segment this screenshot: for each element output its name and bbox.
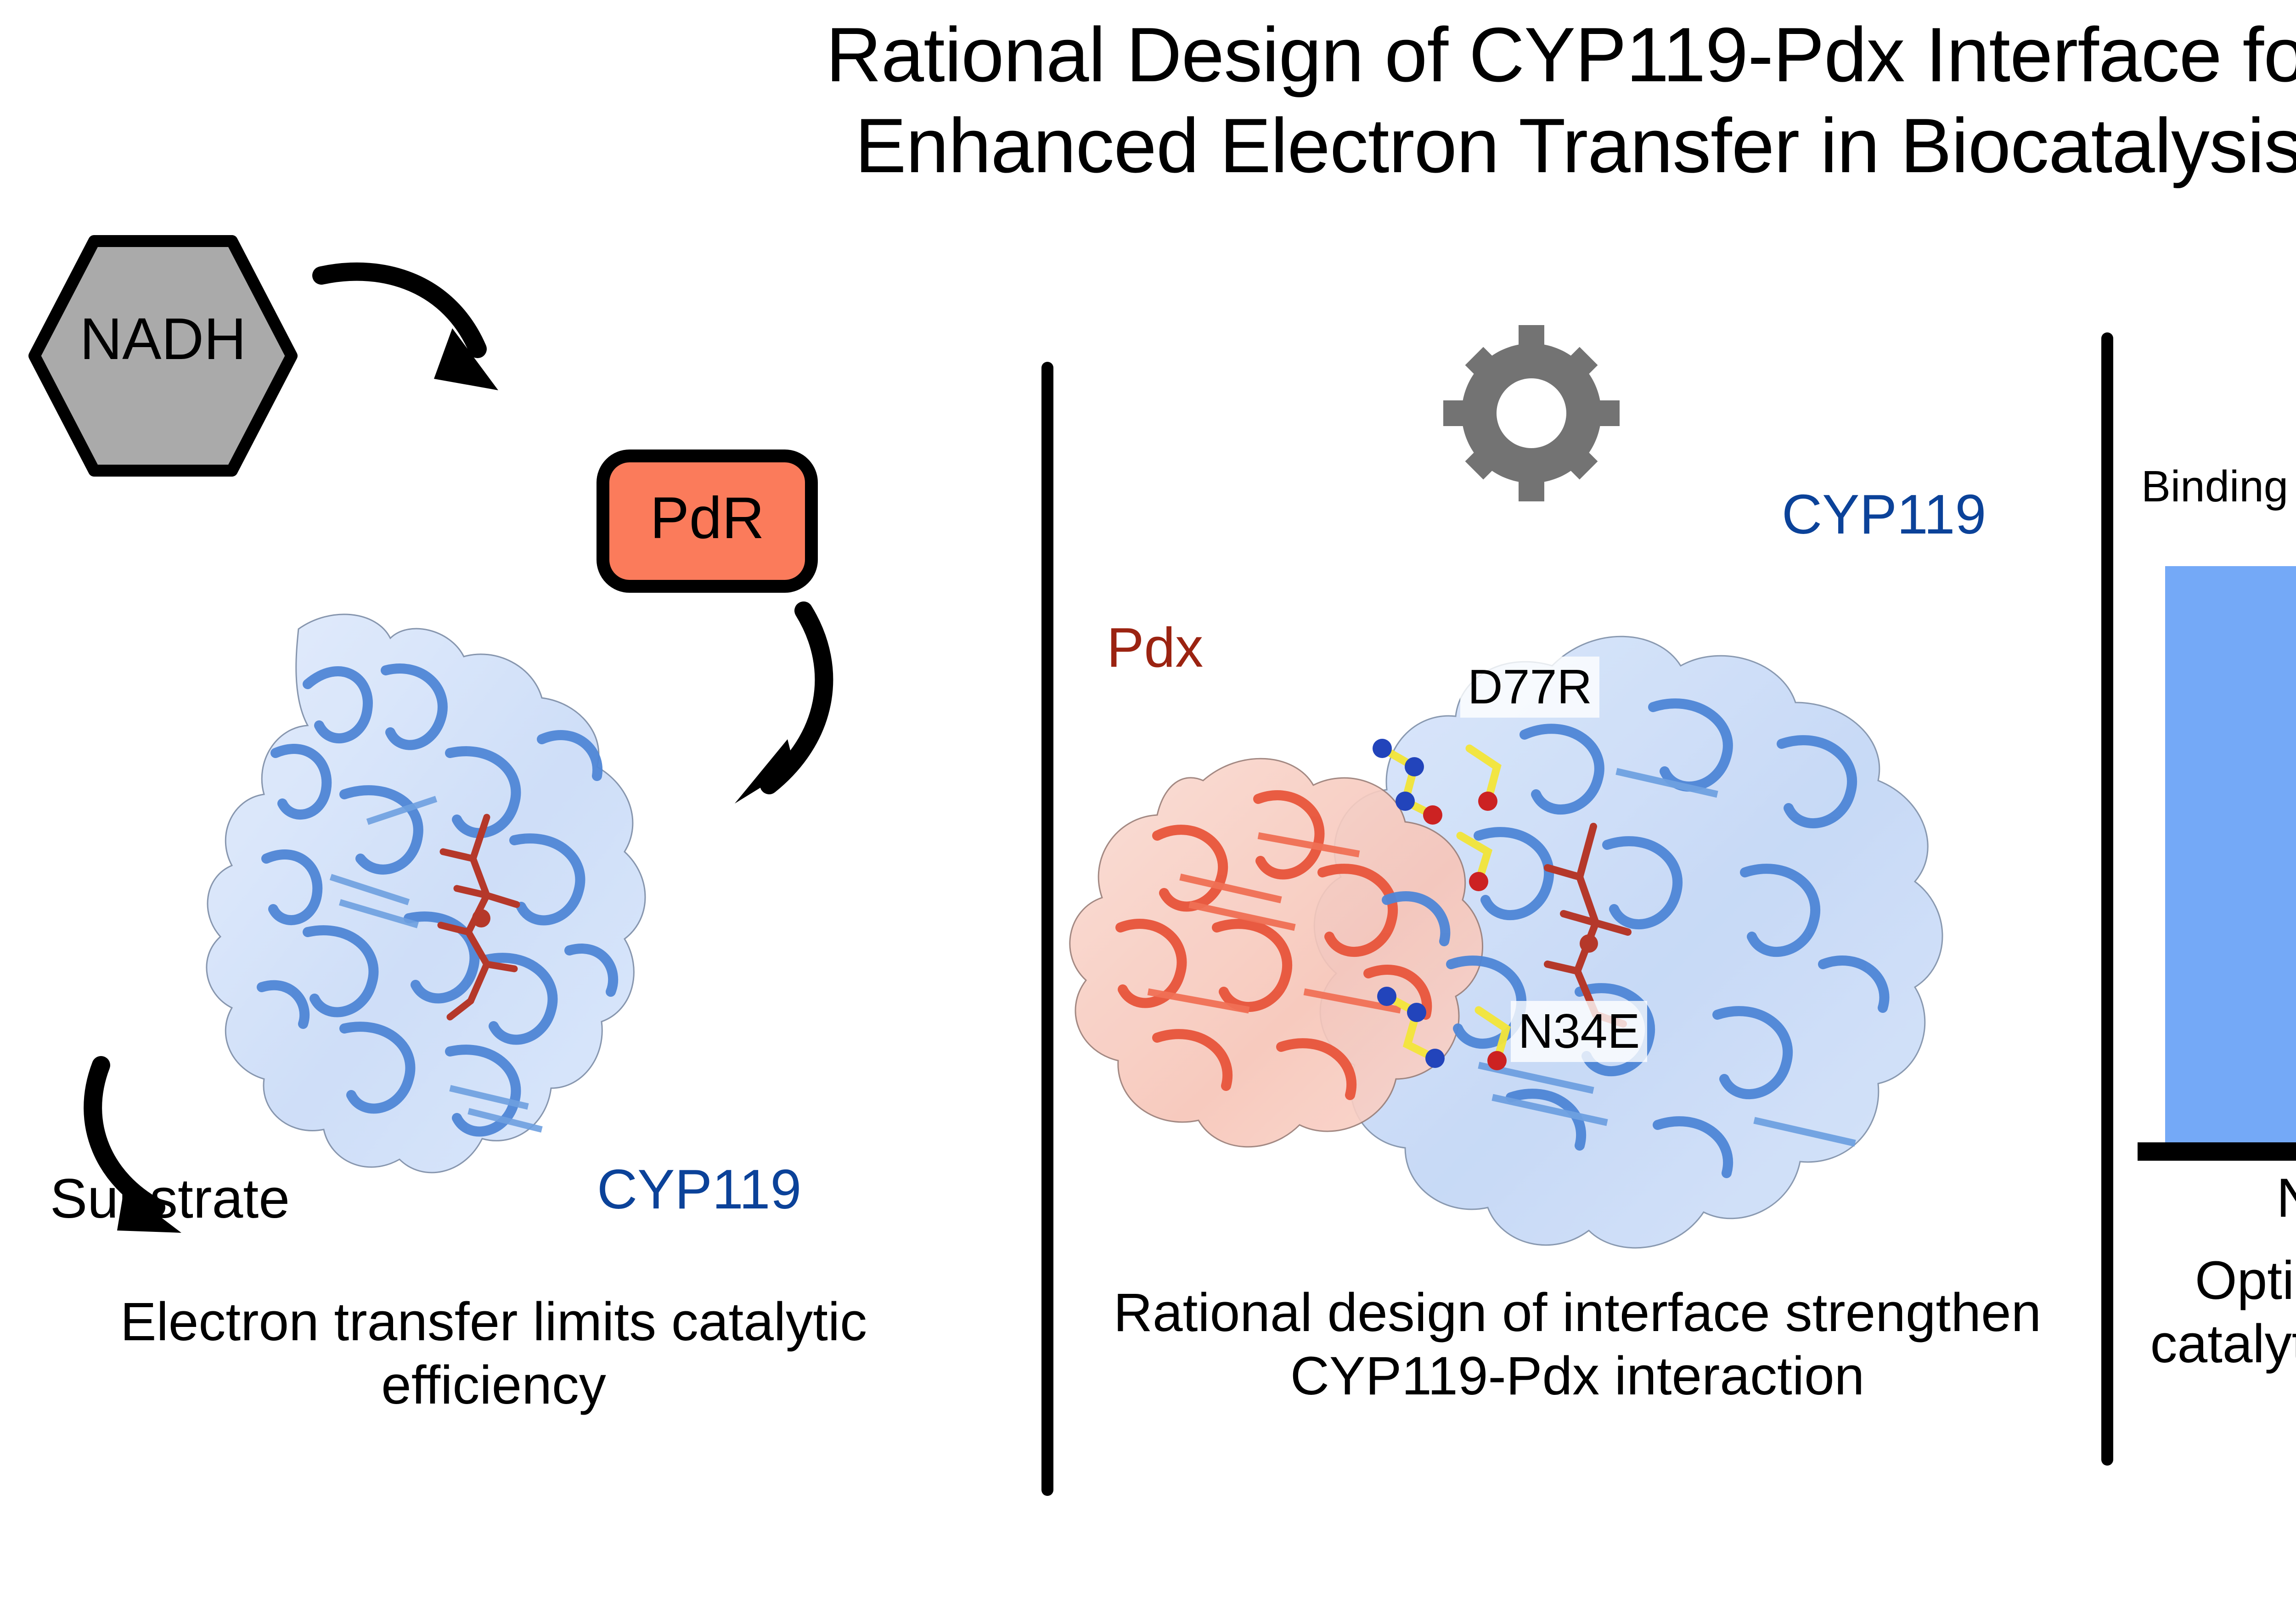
mutant-comparison-bar-chart: [2112, 528, 2296, 1152]
left-caption-text: Electron transfer limits catalytic effic…: [46, 1290, 941, 1417]
arrow-pdr-to-cyp119-icon: [689, 601, 845, 831]
right-caption-text: Optimized mutants enhance binding; catal…: [2117, 1249, 2296, 1439]
middle-panel-caption: Rational design of interface strengthen …: [1070, 1281, 2085, 1408]
mutation-label-n34e: N34E: [1511, 1001, 1647, 1062]
series-label-binding-n34e: Binding: [2139, 461, 2290, 512]
cyp119-structure-left: [193, 601, 753, 1208]
middle-panel: Pdx CYP119 D77R N34E Rational design of …: [1052, 0, 2099, 1607]
cyp119-label-middle: CYP119: [1782, 482, 1986, 546]
axis-baseline-n34e: [2138, 1142, 2296, 1161]
bar-n34e-binding: [2165, 566, 2296, 1142]
pdr-label: PdR: [595, 484, 820, 552]
gear-icon: [1440, 321, 1623, 505]
category-label-n34e: N34E: [2138, 1166, 2296, 1230]
nadh-label: NADH: [25, 305, 301, 373]
arrow-nadh-to-pdr-icon: [317, 257, 537, 450]
substrate-label: Substrate: [28, 1166, 312, 1231]
pdx-label: Pdx: [1107, 615, 1203, 680]
mutation-label-d77r: D77R: [1460, 657, 1599, 718]
right-panel-caption: Optimized mutants enhance binding; catal…: [2117, 1249, 2296, 1439]
cyp119-label-left: CYP119: [597, 1157, 801, 1221]
panel-divider-right: [2101, 332, 2113, 1466]
left-panel-caption: Electron transfer limits catalytic effic…: [46, 1290, 941, 1417]
left-panel: NADH PdR Substrate CYP119 Electron trans…: [0, 0, 1038, 1607]
middle-caption-text: Rational design of interface strengthen …: [1070, 1281, 2085, 1408]
right-panel: Binding e⁻ transfer Binding e⁻ transfer …: [2112, 0, 2296, 1607]
